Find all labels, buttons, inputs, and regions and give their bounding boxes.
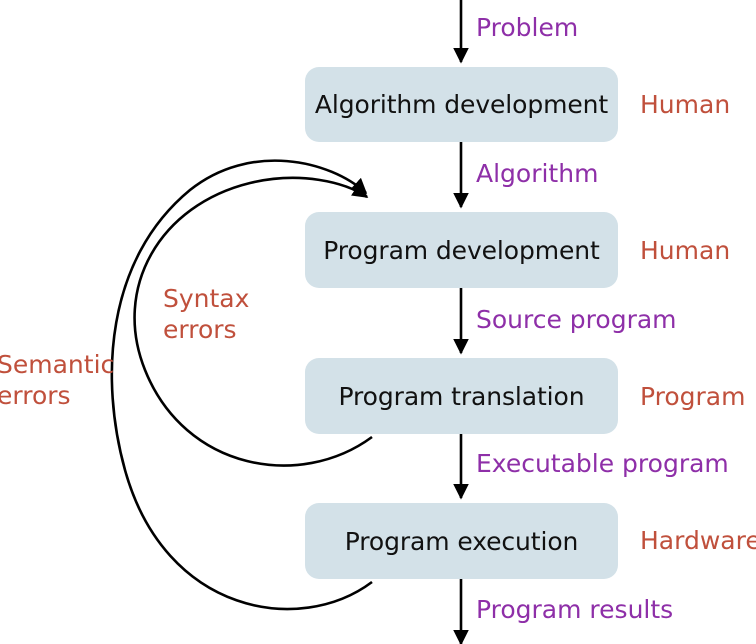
flow-label-source-program: Source program	[476, 307, 677, 332]
actor-label-program-development: Human	[640, 238, 730, 263]
stage-box-program-translation[interactable]: Program translation	[305, 358, 618, 434]
stage-label-program-development: Program development	[323, 238, 599, 263]
stage-box-algorithm-development[interactable]: Algorithm development	[305, 67, 618, 142]
feedback-label-syntax-errors-line1: Syntax	[163, 284, 249, 315]
stage-label-program-translation: Program translation	[339, 384, 585, 409]
stage-box-program-development[interactable]: Program development	[305, 212, 618, 288]
stage-box-program-execution[interactable]: Program execution	[305, 503, 618, 579]
flow-label-executable-program: Executable program	[476, 451, 729, 476]
feedback-label-semantic-errors: Semantic errors	[0, 350, 114, 411]
feedback-label-syntax-errors-line2: errors	[163, 315, 249, 346]
feedback-label-semantic-errors-line1: Semantic	[0, 350, 114, 381]
feedback-label-syntax-errors: Syntax errors	[163, 284, 249, 345]
actor-label-program-translation: Program	[640, 384, 745, 409]
actor-label-algorithm-development: Human	[640, 92, 730, 117]
flowchart-canvas: Algorithm development Program developmen…	[0, 0, 756, 644]
flow-label-program-results: Program results	[476, 597, 673, 622]
flow-label-algorithm: Algorithm	[476, 161, 598, 186]
flow-label-problem: Problem	[476, 15, 578, 40]
stage-label-program-execution: Program execution	[345, 529, 579, 554]
feedback-label-semantic-errors-line2: errors	[0, 381, 114, 412]
stage-label-algorithm-development: Algorithm development	[315, 92, 608, 117]
actor-label-program-execution: Hardware	[640, 528, 756, 553]
